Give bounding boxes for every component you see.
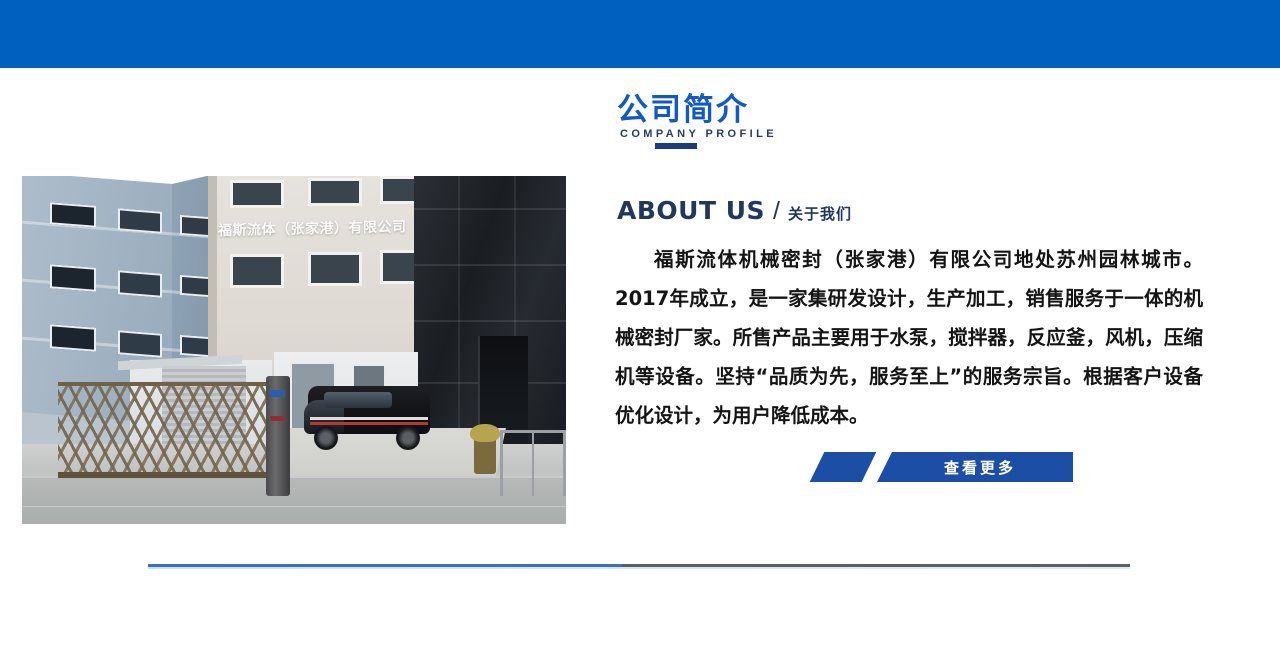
road	[22, 476, 566, 524]
glass-band	[414, 208, 566, 210]
page-subtitle: COMPANY PROFILE	[620, 128, 777, 140]
window	[50, 202, 96, 228]
road-seam	[22, 506, 566, 507]
window	[180, 215, 210, 237]
bottom-divider	[148, 564, 1130, 567]
company-description-paragraph: 福斯流体机械密封（张家港）有限公司地处苏州园林城市。2017年成立，是一家集研发…	[615, 240, 1203, 435]
gate-post-indicator-red	[270, 416, 285, 421]
company-building-photo: 福斯流体（张家港）有限公司	[22, 176, 566, 524]
plant-foliage	[470, 424, 500, 442]
window	[308, 178, 362, 206]
gate-top-rail	[58, 382, 270, 386]
window	[180, 275, 210, 297]
glass-band	[414, 264, 566, 266]
van-stripe-white	[310, 417, 428, 420]
window	[118, 330, 162, 357]
gate-post-indicator	[270, 390, 285, 397]
divider-glow	[148, 567, 1130, 569]
van-wheel	[396, 426, 420, 450]
window	[118, 208, 162, 233]
view-more-label: 查看更多	[877, 452, 1073, 482]
window	[50, 324, 96, 352]
window	[230, 254, 284, 288]
glass-band	[414, 320, 566, 322]
about-us-label-en: ABOUT US	[617, 196, 765, 225]
slash-separator: /	[773, 197, 780, 226]
gate-bottom-rail	[58, 472, 270, 478]
page-title: 公司简介	[617, 84, 749, 129]
window	[50, 264, 96, 292]
view-more-button[interactable]: 查看更多	[817, 452, 1073, 482]
retractable-gate	[58, 382, 270, 478]
title-underline-accent	[655, 143, 697, 149]
company-profile-page: 福斯流体（张家港）有限公司	[0, 0, 1280, 671]
van-windows	[324, 392, 392, 408]
van-wheel	[314, 426, 338, 450]
window	[180, 335, 210, 357]
about-us-label-zh: 关于我们	[788, 203, 852, 224]
photo-canvas: 福斯流体（张家港）有限公司	[22, 176, 566, 524]
button-accent-chip	[810, 452, 877, 482]
window	[230, 180, 284, 208]
top-blue-bar	[0, 0, 1280, 68]
window	[308, 252, 362, 286]
about-us-heading: ABOUT US / 关于我们	[617, 196, 852, 226]
window	[118, 270, 162, 297]
van-stripe-red	[310, 422, 428, 425]
metal-railing	[500, 430, 566, 496]
